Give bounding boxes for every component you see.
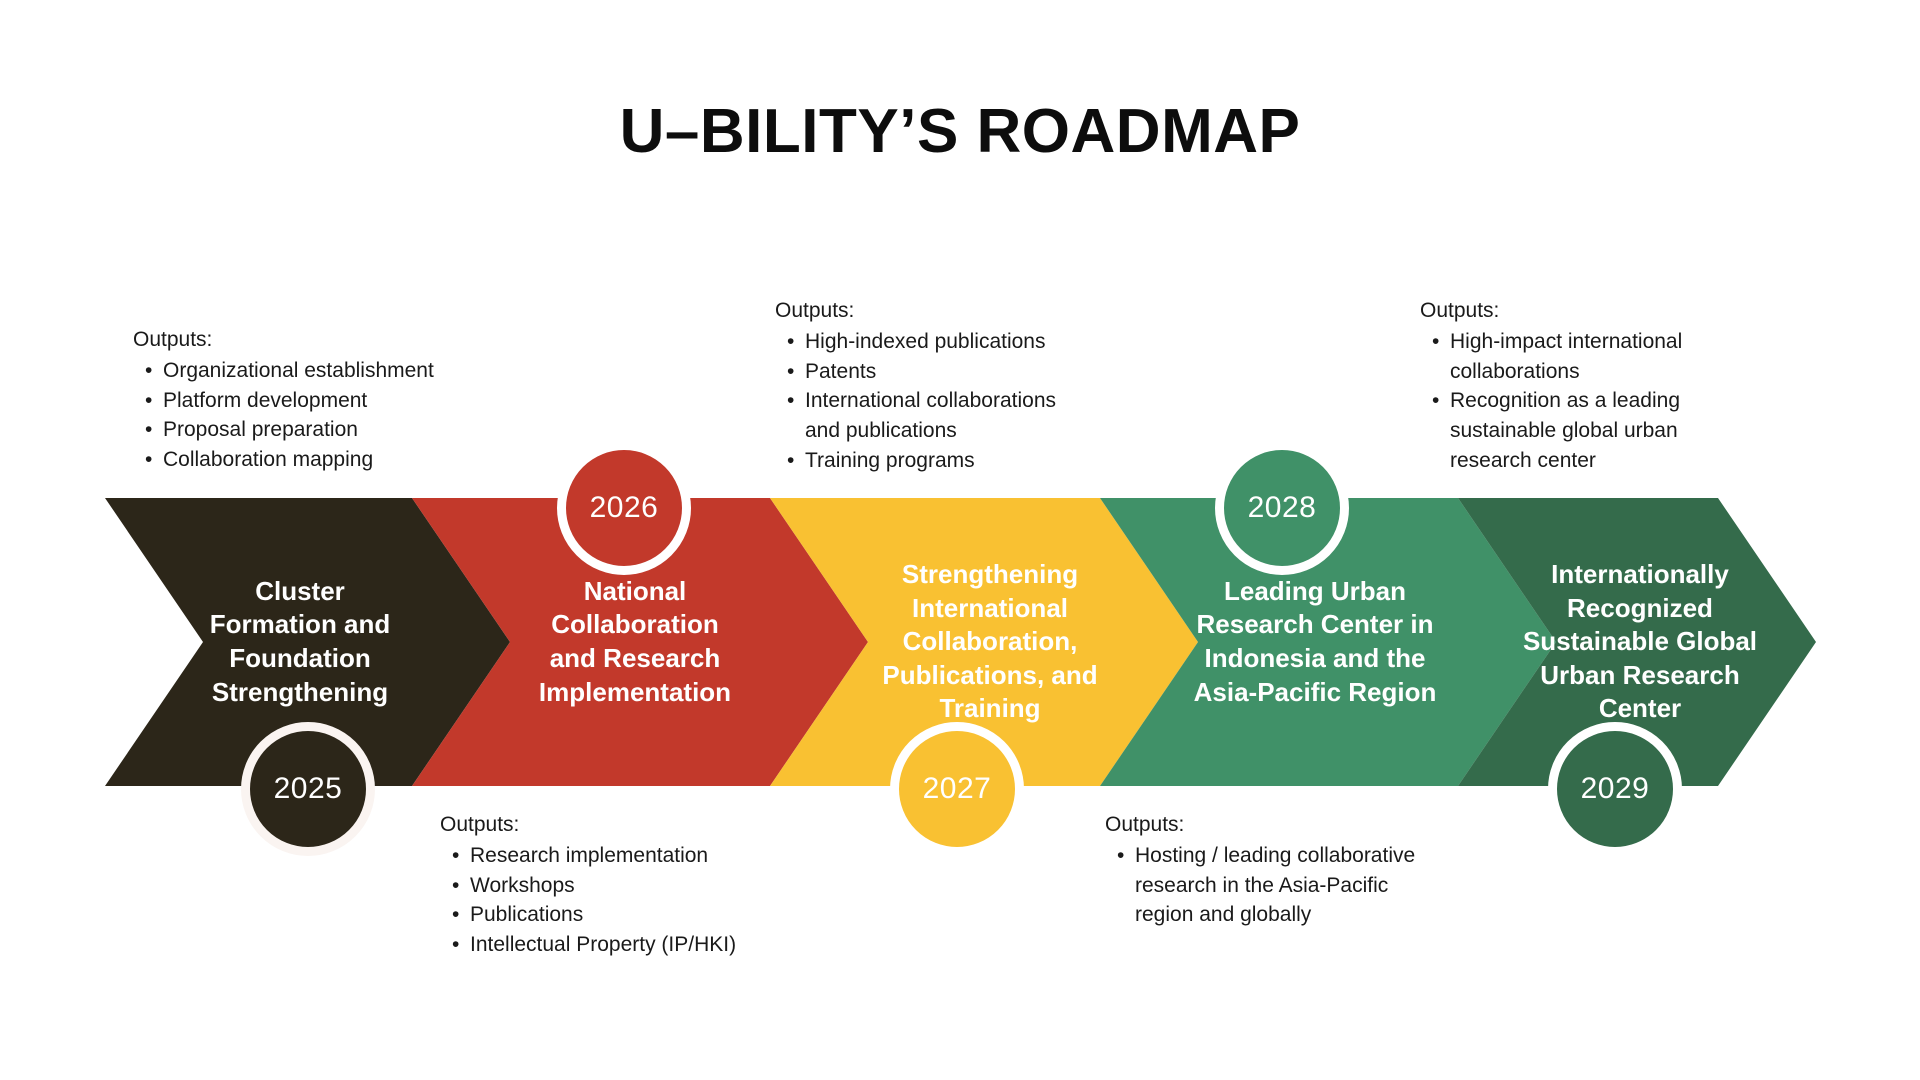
outputs-list-2027: High-indexed publications Patents Intern… [775, 327, 1095, 476]
outputs-item: Proposal preparation [163, 415, 463, 445]
outputs-item: Intellectual Property (IP/HKI) [470, 930, 780, 960]
year-circle-2026[interactable]: 2026 [557, 441, 691, 575]
outputs-heading-2027: Outputs: [775, 296, 1095, 326]
outputs-item: Workshops [470, 871, 780, 901]
outputs-block-2025: Outputs: Organizational establishment Pl… [133, 325, 463, 475]
outputs-list-2026: Research implementation Workshops Public… [440, 841, 780, 960]
outputs-heading-2028: Outputs: [1105, 810, 1450, 840]
outputs-block-2029: Outputs: High-impact international colla… [1420, 296, 1720, 476]
year-label-2025: 2025 [274, 772, 343, 806]
year-label-2026: 2026 [590, 491, 659, 525]
outputs-block-2026: Outputs: Research implementation Worksho… [440, 810, 780, 960]
year-circle-2027[interactable]: 2027 [890, 722, 1024, 856]
outputs-block-2027: Outputs: High-indexed publications Paten… [775, 296, 1095, 476]
stage-label-2026: National Collaboration and Research Impl… [529, 575, 741, 709]
outputs-list-2029: High-impact international collaborations… [1420, 327, 1720, 476]
stage-label-2029: Internationally Recognized Sustainable G… [1513, 558, 1767, 726]
outputs-heading-2026: Outputs: [440, 810, 780, 840]
year-label-2029: 2029 [1581, 772, 1650, 806]
outputs-heading-2025: Outputs: [133, 325, 463, 355]
outputs-list-2028: Hosting / leading collaborative research… [1105, 841, 1450, 930]
outputs-item: Collaboration mapping [163, 445, 463, 475]
outputs-item: Publications [470, 900, 780, 930]
stage-label-2028: Leading Urban Research Center in Indones… [1184, 575, 1447, 709]
outputs-item: International collaborations and publica… [805, 386, 1095, 446]
outputs-block-2028: Outputs: Hosting / leading collaborative… [1105, 810, 1450, 930]
outputs-item: Recognition as a leading sustainable glo… [1450, 386, 1720, 475]
outputs-item: Platform development [163, 386, 463, 416]
outputs-heading-2029: Outputs: [1420, 296, 1720, 326]
stage-label-2025: Cluster Formation and Foundation Strengt… [200, 575, 401, 709]
year-circle-2025[interactable]: 2025 [241, 722, 375, 856]
year-label-2028: 2028 [1248, 491, 1317, 525]
outputs-list-2025: Organizational establishment Platform de… [133, 356, 463, 475]
roadmap-diagram: Cluster Formation and Foundation Strengt… [0, 0, 1920, 1080]
outputs-item: Training programs [805, 446, 1095, 476]
year-circle-2029[interactable]: 2029 [1548, 722, 1682, 856]
outputs-item: Research implementation [470, 841, 780, 871]
outputs-item: High-indexed publications [805, 327, 1095, 357]
year-circle-2028[interactable]: 2028 [1215, 441, 1349, 575]
year-label-2027: 2027 [923, 772, 992, 806]
outputs-item: Patents [805, 357, 1095, 387]
outputs-item: Organizational establishment [163, 356, 463, 386]
outputs-item: High-impact international collaborations [1450, 327, 1720, 387]
stage-label-2027: Strengthening International Collaboratio… [872, 558, 1107, 726]
outputs-item: Hosting / leading collaborative research… [1135, 841, 1450, 930]
